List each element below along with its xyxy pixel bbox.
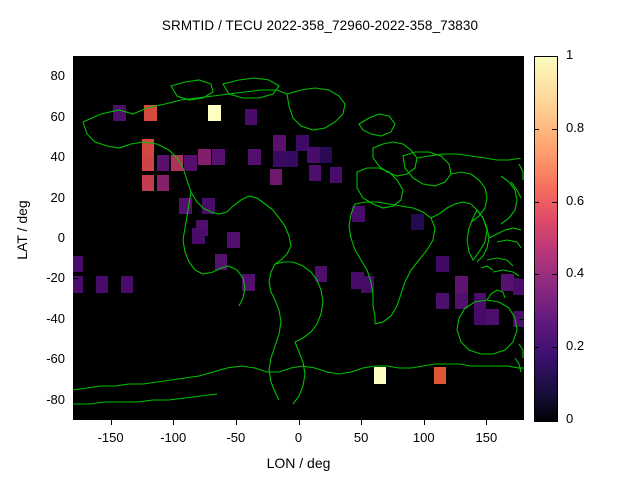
colorbar-tick: [552, 347, 557, 348]
heatmap-cell: [96, 276, 109, 292]
y-axis-tick-right: [519, 400, 524, 401]
colorbar-tick: [534, 274, 539, 275]
y-tick-label: 80: [17, 68, 65, 83]
x-axis-tick-top: [236, 56, 237, 61]
heatmap-cell: [361, 276, 374, 292]
heatmap-cell: [198, 149, 211, 165]
y-axis-tick-right: [519, 198, 524, 199]
colorbar-tick: [552, 202, 557, 203]
heatmap-cell: [315, 266, 328, 282]
heatmap-cell: [215, 254, 228, 270]
heatmap-cell: [307, 147, 320, 163]
heatmap-cell: [202, 198, 215, 214]
y-axis-tick: [73, 76, 78, 77]
heatmap-cell: [245, 109, 258, 125]
y-axis-tick-right: [519, 278, 524, 279]
y-axis-tick: [73, 278, 78, 279]
heatmap-cell: [513, 278, 524, 294]
x-axis-tick: [173, 420, 174, 425]
heatmap-cell: [455, 293, 468, 309]
x-axis-tick: [424, 420, 425, 425]
colorbar-tick: [552, 129, 557, 130]
x-axis-tick: [299, 420, 300, 425]
y-axis-tick: [73, 238, 78, 239]
colorbar-tick: [534, 202, 539, 203]
heatmap-cell: [227, 232, 240, 248]
map-plot-area[interactable]: [73, 56, 524, 420]
y-axis-tick: [73, 117, 78, 118]
y-tick-label: 40: [17, 149, 65, 164]
heatmap-cell: [121, 276, 134, 292]
y-tick-label: -40: [17, 311, 65, 326]
heatmap-cell: [184, 155, 197, 171]
y-tick-label: -80: [17, 392, 65, 407]
x-tick-label: -100: [143, 430, 203, 445]
figure-canvas: SRMTID / TECU 2022-358_72960-2022-358_73…: [0, 0, 640, 480]
y-axis-tick-right: [519, 238, 524, 239]
heatmap-cell: [142, 139, 155, 155]
y-axis-tick-right: [519, 319, 524, 320]
x-axis-label: LON / deg: [73, 455, 524, 471]
heatmap-cell: [273, 151, 286, 167]
y-tick-label: 60: [17, 109, 65, 124]
x-axis-tick-top: [486, 56, 487, 61]
colorbar-tick: [552, 274, 557, 275]
y-tick-label: 0: [17, 230, 65, 245]
heatmap-cell: [157, 155, 170, 171]
y-axis-tick: [73, 198, 78, 199]
heatmap-cell: [142, 155, 155, 171]
x-tick-label: 100: [394, 430, 454, 445]
x-tick-label: 50: [331, 430, 391, 445]
y-axis-tick-right: [519, 359, 524, 360]
heatmap-cell: [434, 367, 447, 383]
y-tick-label: -20: [17, 270, 65, 285]
x-axis-tick-top: [111, 56, 112, 61]
colorbar-tick: [552, 420, 557, 421]
heatmap-cell: [270, 169, 283, 185]
y-axis-tick-right: [519, 117, 524, 118]
heatmap-cell: [455, 276, 468, 292]
y-axis-tick: [73, 157, 78, 158]
heatmap-cell: [242, 274, 255, 290]
heatmap-cell: [436, 256, 449, 272]
heatmap-cell: [320, 147, 333, 163]
heatmap-cell: [73, 256, 83, 272]
heatmap-cell: [286, 151, 299, 167]
y-axis-tick: [73, 400, 78, 401]
colorbar-tick-label: 0.2: [566, 338, 584, 353]
colorbar-tick-label: 0.6: [566, 193, 584, 208]
heatmap-cell: [192, 228, 205, 244]
heatmap-cell: [374, 367, 387, 383]
heatmap-cell: [474, 309, 487, 325]
x-axis-tick-top: [173, 56, 174, 61]
colorbar-tick-label: 1: [566, 47, 573, 62]
colorbar-tick: [534, 129, 539, 130]
x-axis-tick: [111, 420, 112, 425]
colorbar-tick: [534, 420, 539, 421]
heatmap-cell: [113, 105, 126, 121]
colorbar-tick-label: 0.8: [566, 120, 584, 135]
heatmap-cell: [486, 309, 499, 325]
x-axis-tick-top: [299, 56, 300, 61]
x-tick-label: 0: [269, 430, 329, 445]
colorbar-tick-label: 0.4: [566, 265, 584, 280]
heatmap-cell: [212, 149, 225, 165]
heatmap-cell: [142, 175, 155, 191]
heatmap-cell: [144, 105, 157, 121]
heatmap-cell: [157, 175, 170, 191]
y-axis-tick: [73, 359, 78, 360]
x-axis-tick: [361, 420, 362, 425]
colorbar: [534, 56, 558, 422]
x-tick-label: 150: [456, 430, 516, 445]
heatmap-cell-layer: [73, 56, 524, 420]
plot-title: SRMTID / TECU 2022-358_72960-2022-358_73…: [0, 18, 640, 33]
heatmap-cell: [352, 206, 365, 222]
x-axis-tick-top: [361, 56, 362, 61]
heatmap-cell: [411, 214, 424, 230]
heatmap-cell: [171, 155, 184, 171]
colorbar-tick: [552, 56, 557, 57]
heatmap-cell: [474, 293, 487, 309]
heatmap-cell: [436, 293, 449, 309]
colorbar-tick: [534, 56, 539, 57]
heatmap-cell: [330, 167, 343, 183]
colorbar-tick: [534, 347, 539, 348]
heatmap-cell: [309, 165, 322, 181]
heatmap-cell: [208, 105, 221, 121]
heatmap-cell: [248, 149, 261, 165]
x-axis-tick: [236, 420, 237, 425]
x-tick-label: -50: [206, 430, 266, 445]
y-tick-label: -60: [17, 351, 65, 366]
x-axis-tick-top: [424, 56, 425, 61]
heatmap-cell: [273, 135, 286, 151]
colorbar-tick-label: 0: [566, 411, 573, 426]
y-axis-tick-right: [519, 76, 524, 77]
y-axis-tick-right: [519, 157, 524, 158]
y-tick-label: 20: [17, 190, 65, 205]
x-axis-tick: [486, 420, 487, 425]
x-tick-label: -150: [81, 430, 141, 445]
heatmap-cell: [179, 198, 192, 214]
y-axis-tick: [73, 319, 78, 320]
